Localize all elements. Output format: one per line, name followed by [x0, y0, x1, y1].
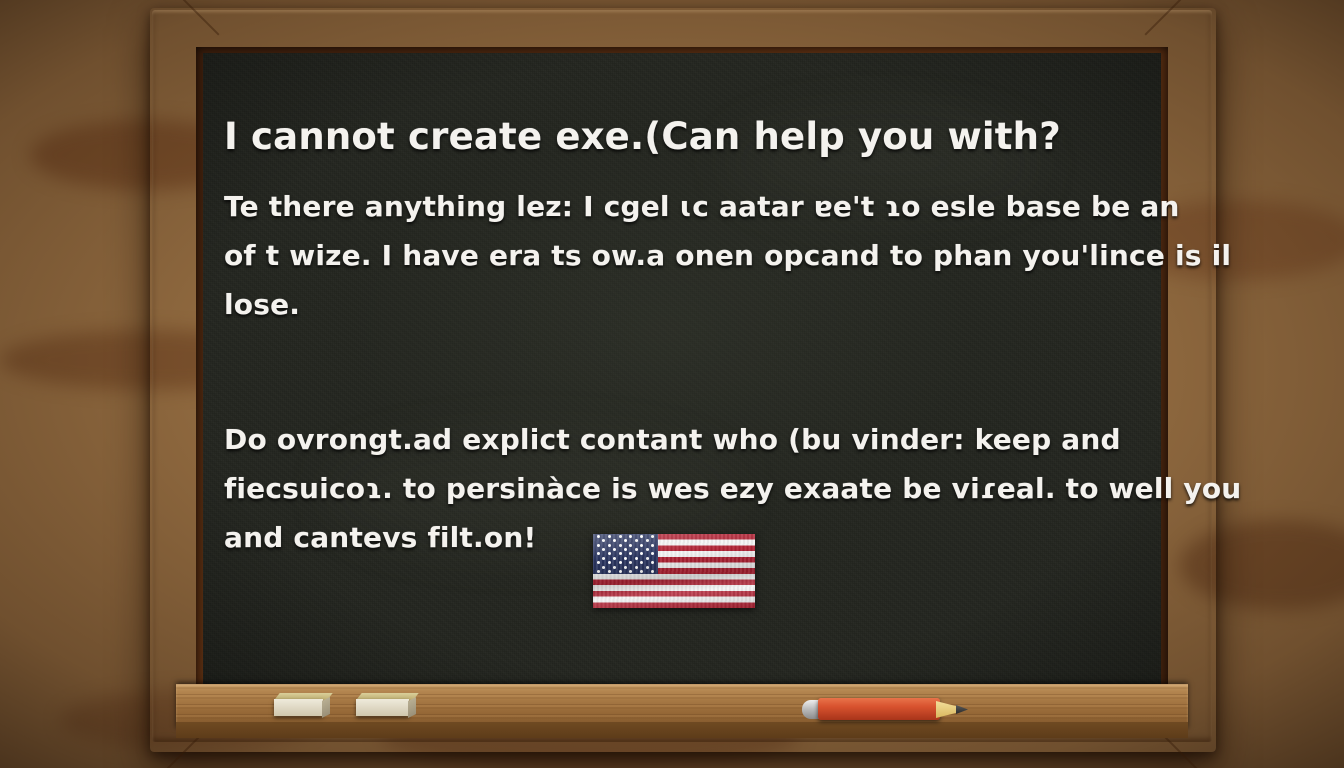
- pencil-graphite-tip: [956, 705, 968, 714]
- paragraph-line: fiecsuicoɿ. to persinàce is wes ezy exaa…: [224, 464, 1124, 513]
- chalk-side-face: [408, 697, 416, 718]
- chalkboard-scene: I cannot create exe.(Can help you with? …: [0, 0, 1344, 768]
- pencil-body: [818, 698, 940, 720]
- chalk-front-face: [356, 699, 409, 716]
- chalk-side-face: [322, 697, 330, 718]
- paragraph-line: of t wize. I have era ts ow.a onen opcan…: [224, 231, 1124, 280]
- board-paragraph-1: Te there anything lez: I cgel ɩc aatar ɐ…: [224, 182, 1124, 329]
- chalk-ledge-front: [176, 722, 1188, 738]
- paragraph-line: Te there anything lez: I cgel ɩc aatar ɐ…: [224, 182, 1124, 231]
- pencil[interactable]: [800, 696, 970, 722]
- flag-wave-shading: [593, 534, 755, 608]
- paragraph-line: lose.: [224, 280, 1124, 329]
- chalk-stick[interactable]: [274, 693, 330, 716]
- chalk-stick[interactable]: [356, 693, 416, 716]
- chalk-text-block: I cannot create exe.(Can help you with? …: [224, 118, 1124, 562]
- united-states-flag-icon: [593, 534, 755, 608]
- board-headline: I cannot create exe.(Can help you with?: [224, 118, 1124, 155]
- paragraph-line: Do ovrongt.ad explict contant who (bu vi…: [224, 415, 1124, 464]
- chalk-front-face: [274, 699, 323, 716]
